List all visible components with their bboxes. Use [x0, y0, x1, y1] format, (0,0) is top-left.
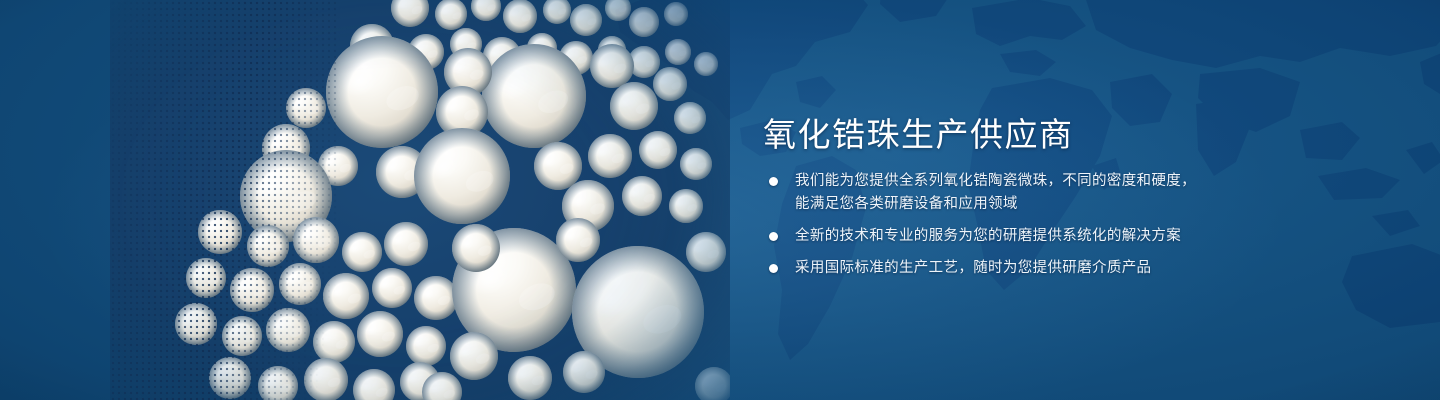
- feature-list-item: 全新的技术和专业的服务为您的研磨提供系统化的解决方案: [769, 225, 1199, 248]
- bullet-dot-icon: [769, 232, 778, 241]
- bullet-dot-icon: [769, 177, 778, 186]
- feature-text: 我们能为您提供全系列氧化锆陶瓷微珠，不同的密度和硬度，能满足您各类研磨设备和应用…: [795, 173, 1196, 212]
- hero-banner: 氧化锆珠生产供应商 我们能为您提供全系列氧化锆陶瓷微珠，不同的密度和硬度，能满足…: [0, 0, 1440, 400]
- bullet-dot-icon: [769, 264, 778, 273]
- feature-text: 采用国际标准的生产工艺，随时为您提供研磨介质产品: [795, 260, 1151, 276]
- feature-list: 我们能为您提供全系列氧化锆陶瓷微珠，不同的密度和硬度，能满足您各类研磨设备和应用…: [769, 170, 1199, 280]
- feature-list-item: 采用国际标准的生产工艺，随时为您提供研磨介质产品: [769, 257, 1199, 280]
- banner-headline: 氧化锆珠生产供应商: [763, 108, 1074, 156]
- banner-copy: 氧化锆珠生产供应商 我们能为您提供全系列氧化锆陶瓷微珠，不同的密度和硬度，能满足…: [763, 0, 1383, 400]
- feature-list-item: 我们能为您提供全系列氧化锆陶瓷微珠，不同的密度和硬度，能满足您各类研磨设备和应用…: [769, 170, 1199, 216]
- feature-text: 全新的技术和专业的服务为您的研磨提供系统化的解决方案: [795, 228, 1181, 244]
